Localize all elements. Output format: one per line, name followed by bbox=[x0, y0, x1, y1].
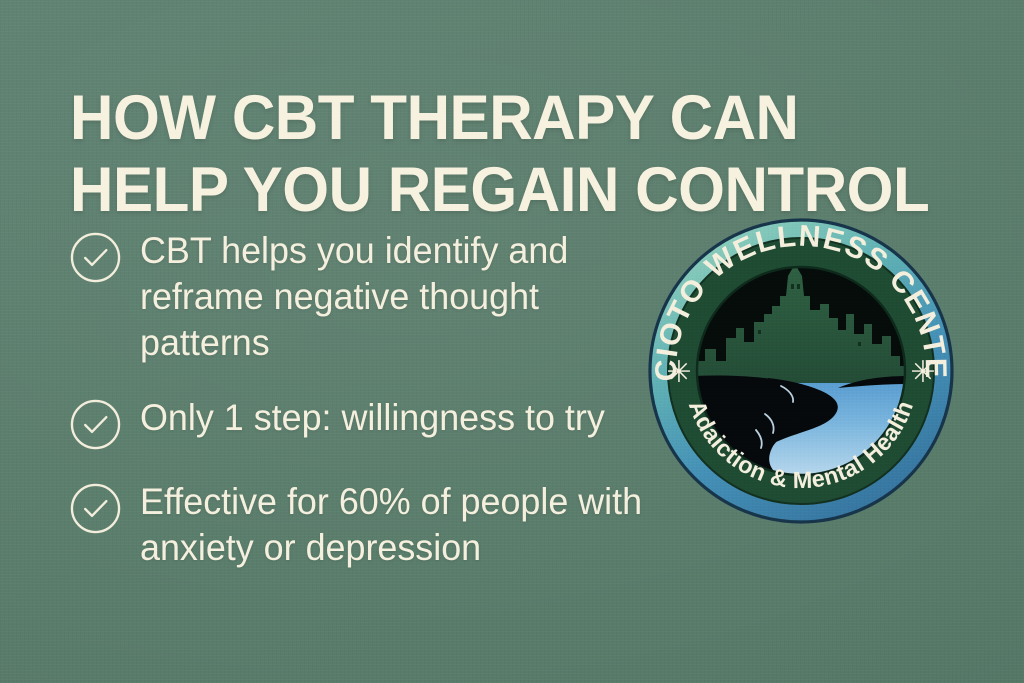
check-circle-icon bbox=[70, 399, 121, 450]
list-item: CBT helps you identify and reframe negat… bbox=[70, 228, 670, 366]
list-item-text: CBT helps you identify and reframe negat… bbox=[140, 228, 654, 366]
asterisk-icon-left: ✳ bbox=[666, 356, 691, 389]
scioto-wellness-center-logo: SCIOTO WELLNESS CENTER Adaiction & Menta… bbox=[648, 218, 954, 524]
list-item-text: Only 1 step: willingness to try bbox=[140, 395, 605, 441]
headline-line-2: HELP YOU REGAIN CONTROL bbox=[70, 160, 891, 221]
list-item-text: Effective for 60% of people with anxiety… bbox=[140, 479, 654, 571]
headline-line-1: HOW CBT THERAPY CAN bbox=[70, 88, 891, 149]
list-item: Only 1 step: willingness to try bbox=[70, 395, 670, 450]
asterisk-icon-right: ✳ bbox=[910, 356, 935, 389]
poster-canvas: HOW CBT THERAPY CAN HELP YOU REGAIN CONT… bbox=[0, 0, 1024, 683]
check-circle-icon bbox=[70, 232, 121, 283]
benefit-list: CBT helps you identify and reframe negat… bbox=[70, 228, 670, 570]
check-circle-icon bbox=[70, 483, 121, 534]
list-item: Effective for 60% of people with anxiety… bbox=[70, 479, 670, 571]
page-title: HOW CBT THERAPY CAN HELP YOU REGAIN CONT… bbox=[70, 88, 891, 221]
